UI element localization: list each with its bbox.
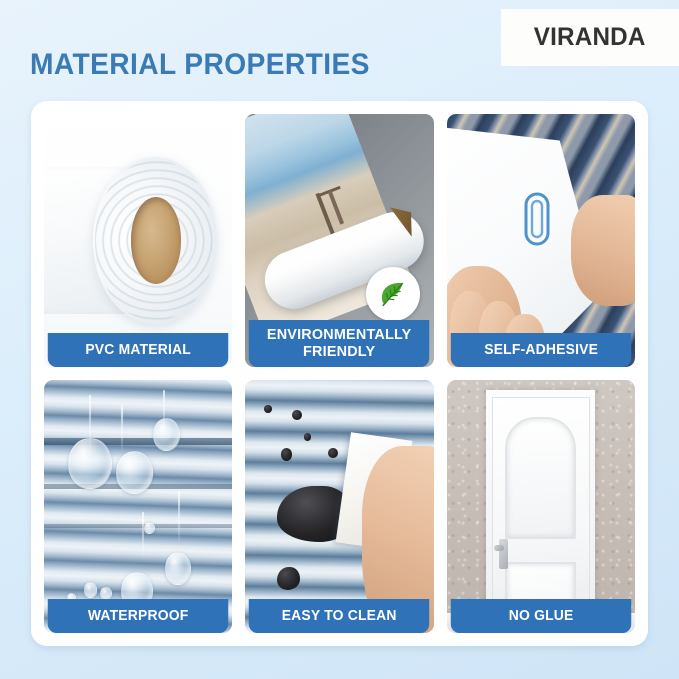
feature-tile-environmentally-friendly[interactable]: ENVIRONMENTALLY FRIENDLY (245, 114, 433, 367)
header: MATERIAL PROPERTIES VIRANDA (0, 0, 679, 100)
feature-card: PVC MATERIAL (31, 101, 648, 646)
brand-logo-text: VIRANDA (534, 23, 646, 52)
paperclip-icon (522, 190, 552, 248)
page-title: MATERIAL PROPERTIES (30, 48, 370, 82)
waterproof-droplets-image (44, 380, 232, 633)
feature-label-waterproof: WATERPROOF (48, 599, 229, 633)
feature-tile-pvc-material[interactable]: PVC MATERIAL (44, 114, 232, 367)
feature-tile-waterproof[interactable]: WATERPROOF (44, 380, 232, 633)
feature-label-environmentally-friendly: ENVIRONMENTALLY FRIENDLY (249, 320, 430, 367)
self-adhesive-peel-image (447, 114, 635, 367)
pvc-roll-image (44, 114, 232, 367)
feature-tile-self-adhesive[interactable]: SELF-ADHESIVE (447, 114, 635, 367)
feature-tile-easy-to-clean[interactable]: EASY TO CLEAN (245, 380, 433, 633)
easy-to-clean-wiping-image (245, 380, 433, 633)
feature-label-easy-to-clean: EASY TO CLEAN (249, 599, 430, 633)
feature-grid: PVC MATERIAL (44, 114, 635, 633)
no-glue-door-image (447, 380, 635, 633)
feature-label-no-glue: NO GLUE (450, 599, 631, 633)
feature-tile-no-glue[interactable]: NO GLUE (447, 380, 635, 633)
feature-label-pvc-material: PVC MATERIAL (48, 333, 229, 367)
brand-logo: VIRANDA (501, 9, 679, 66)
feature-label-self-adhesive: SELF-ADHESIVE (450, 333, 631, 367)
